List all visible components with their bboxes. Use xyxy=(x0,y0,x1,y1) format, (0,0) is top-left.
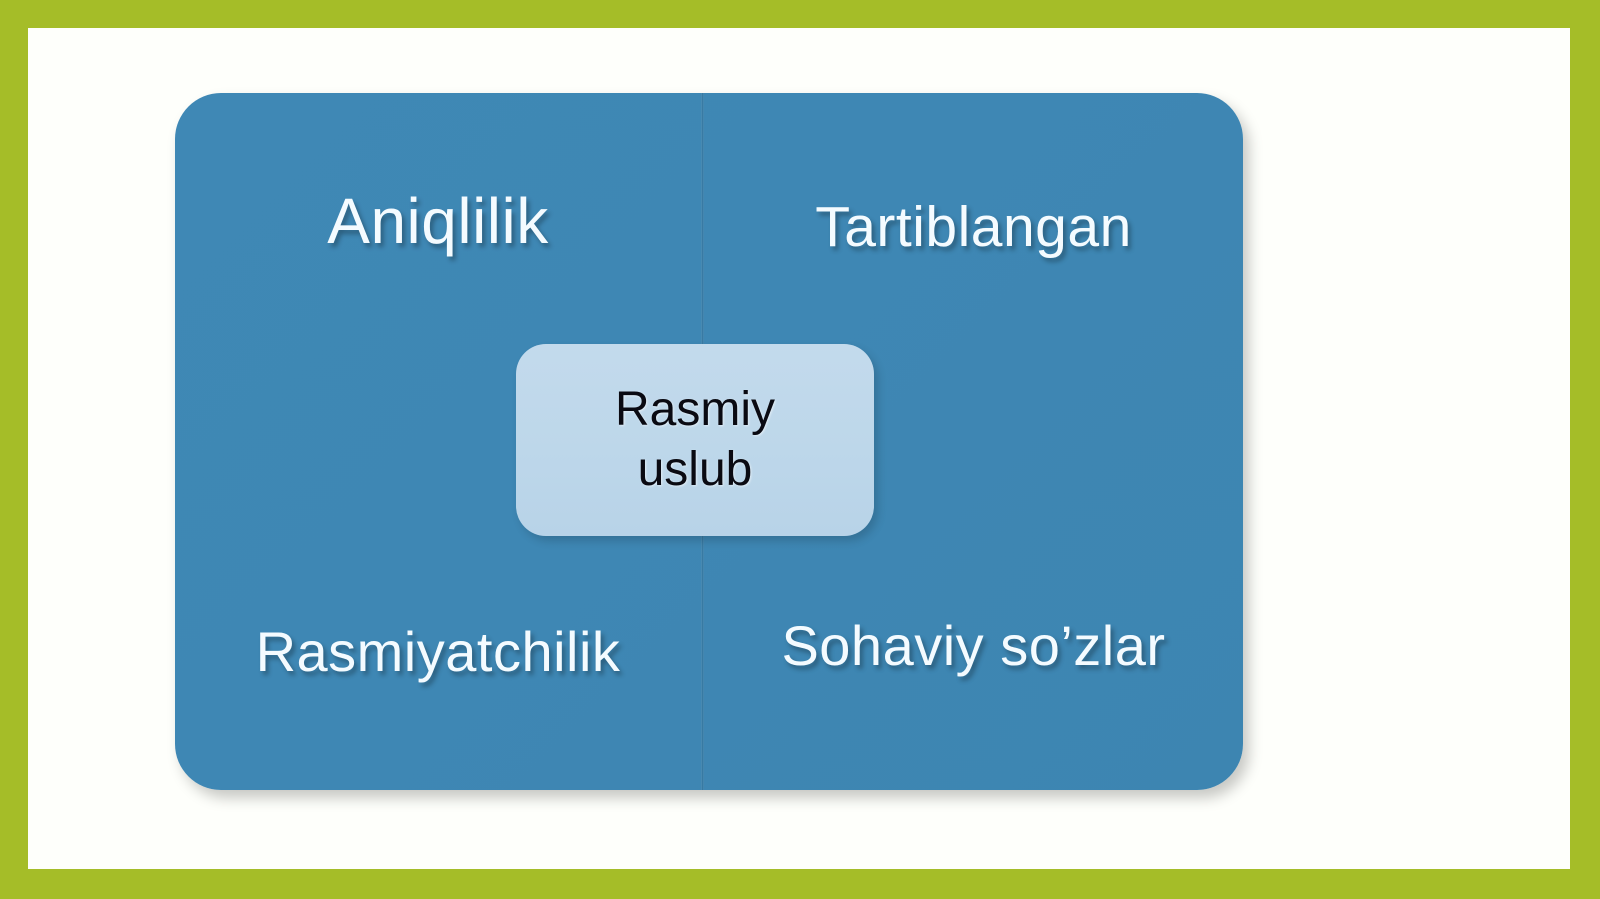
center-callout-line-2: uslub xyxy=(615,440,775,500)
center-callout-line-1: Rasmiy xyxy=(615,380,775,440)
center-callout-box: Rasmiy uslub xyxy=(516,344,874,536)
quadrant-label-bottom-right: Sohaviy so’zlar xyxy=(704,617,1243,676)
slide-canvas: Aniqlilik Tartiblangan Rasmiyatchilik So… xyxy=(28,28,1570,869)
quadrant-label-top-right: Tartiblangan xyxy=(704,198,1243,258)
center-callout-text: Rasmiy uslub xyxy=(615,380,775,499)
slide-frame: Aniqlilik Tartiblangan Rasmiyatchilik So… xyxy=(0,0,1600,899)
quadrant-label-bottom-left: Rasmiyatchilik xyxy=(175,623,701,682)
quadrant-label-top-left: Aniqlilik xyxy=(175,188,701,255)
